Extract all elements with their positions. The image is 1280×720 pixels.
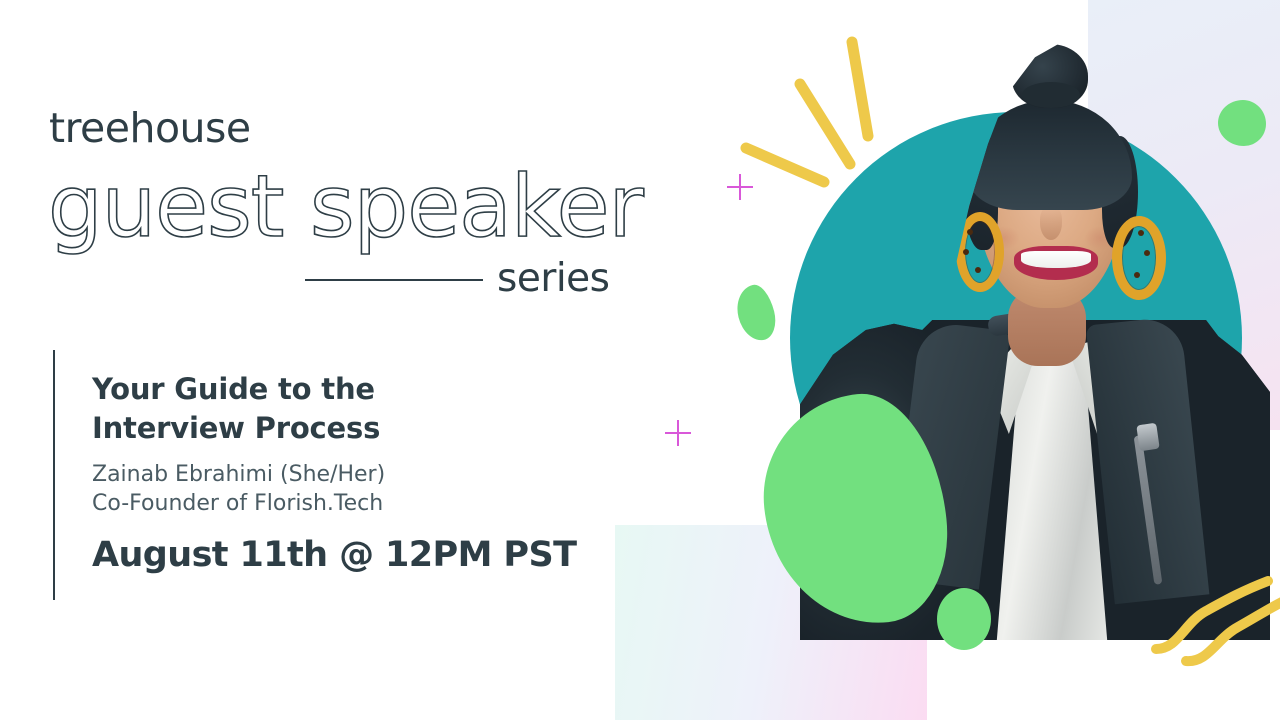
presentation-slide: treehouse guest speaker series Your Guid… xyxy=(0,0,1280,720)
smiling-mouth xyxy=(1014,246,1098,280)
session-datetime: August 11th @ 12PM PST xyxy=(92,535,576,575)
brand-logo-text: treehouse xyxy=(49,104,251,152)
speaker-role: Co-Founder of Florish.Tech xyxy=(92,491,383,516)
series-label: series xyxy=(497,256,610,301)
speaker-name: Zainab Ebrahimi (She/Her) xyxy=(92,462,385,487)
magenta-plus-icon-lower xyxy=(665,420,691,446)
session-title: Your Guide to the Interview Process xyxy=(92,370,512,447)
teeth xyxy=(1021,251,1091,268)
headline-outlined-text: guest speaker xyxy=(40,160,660,260)
headline-text: guest speaker xyxy=(48,160,645,257)
green-blob-small xyxy=(732,281,780,344)
jacket-zipper-pull xyxy=(1136,423,1159,452)
green-circle-bottom xyxy=(937,588,991,650)
magenta-plus-icon-upper xyxy=(727,174,753,200)
series-divider-rule xyxy=(305,279,483,281)
session-title-line-1: Your Guide to the xyxy=(92,372,375,406)
hair-bun-base xyxy=(1022,82,1080,108)
leopard-hoop-earring-right xyxy=(1112,216,1166,300)
nose xyxy=(1040,206,1062,240)
yellow-burst-icon xyxy=(740,30,910,210)
yellow-squiggle-icon xyxy=(1150,565,1280,675)
session-title-line-2: Interview Process xyxy=(92,411,380,445)
green-circle-top-right xyxy=(1218,100,1266,146)
vertical-accent-rule xyxy=(53,350,55,600)
